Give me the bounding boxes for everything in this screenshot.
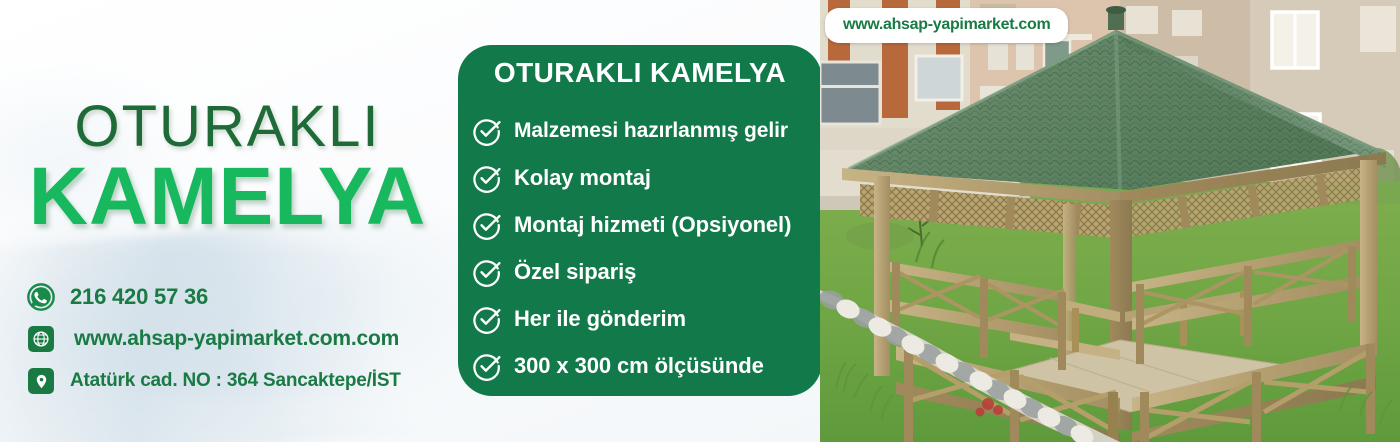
promo-banner: OTURAKLI KAMELYA 216 420 57 36 — [0, 0, 1400, 442]
contact-website[interactable]: www.ahsap-yapimarket.com.com — [26, 318, 456, 360]
check-circle-icon — [472, 257, 502, 287]
feature-item: Montaj hizmeti (Opsiyonel) — [470, 201, 850, 248]
website-badge[interactable]: www.ahsap-yapimarket.com — [825, 8, 1068, 43]
check-circle-icon — [472, 116, 502, 146]
check-circle-icon — [472, 163, 502, 193]
gazebo-illustration — [820, 0, 1400, 442]
globe-icon — [28, 326, 54, 352]
headline-line-2: KAMELYA — [0, 154, 455, 240]
headline-line-1: OTURAKLI — [0, 96, 455, 158]
feature-item-label: Kolay montaj — [514, 165, 651, 191]
feature-item: 300 x 300 cm ölçüsünde — [470, 342, 850, 389]
feature-item-label: Montaj hizmeti (Opsiyonel) — [514, 212, 791, 238]
check-circle-icon — [472, 351, 502, 381]
website-badge-text: www.ahsap-yapimarket.com — [843, 16, 1050, 33]
check-circle-icon — [472, 210, 502, 240]
check-circle-icon — [472, 304, 502, 334]
contact-address-text: Atatürk cad. NO : 364 Sancaktepe/İST — [70, 370, 401, 392]
feature-card-title: OTURAKLI KAMELYA — [458, 57, 822, 89]
contact-phone-text: 216 420 57 36 — [70, 284, 208, 310]
feature-item: Kolay montaj — [470, 154, 850, 201]
feature-item-label: Malzemesi hazırlanmış gelir — [514, 119, 788, 143]
contact-website-text: www.ahsap-yapimarket.com.com — [74, 327, 399, 351]
feature-item-label: Her ile gönderim — [514, 306, 686, 332]
feature-item: Özel sipariş — [470, 248, 850, 295]
contact-address: Atatürk cad. NO : 364 Sancaktepe/İST — [26, 360, 456, 402]
feature-item: Her ile gönderim — [470, 295, 850, 342]
whatsapp-icon — [26, 282, 56, 312]
contact-phone[interactable]: 216 420 57 36 — [26, 276, 456, 318]
feature-item-label: 300 x 300 cm ölçüsünde — [514, 353, 764, 379]
feature-card: OTURAKLI KAMELYA Malzemesi hazırlanmış g… — [458, 45, 822, 396]
location-pin-icon — [28, 368, 54, 394]
feature-item-label: Özel sipariş — [514, 259, 636, 285]
contact-list: 216 420 57 36 www.ahsap-yapimarket.com.c… — [26, 276, 456, 402]
feature-item: Malzemesi hazırlanmış gelir — [470, 107, 850, 154]
gazebo-photo — [820, 0, 1400, 442]
page-title: OTURAKLI KAMELYA — [0, 96, 455, 240]
feature-list: Malzemesi hazırlanmış gelir Kolay montaj — [470, 107, 850, 389]
